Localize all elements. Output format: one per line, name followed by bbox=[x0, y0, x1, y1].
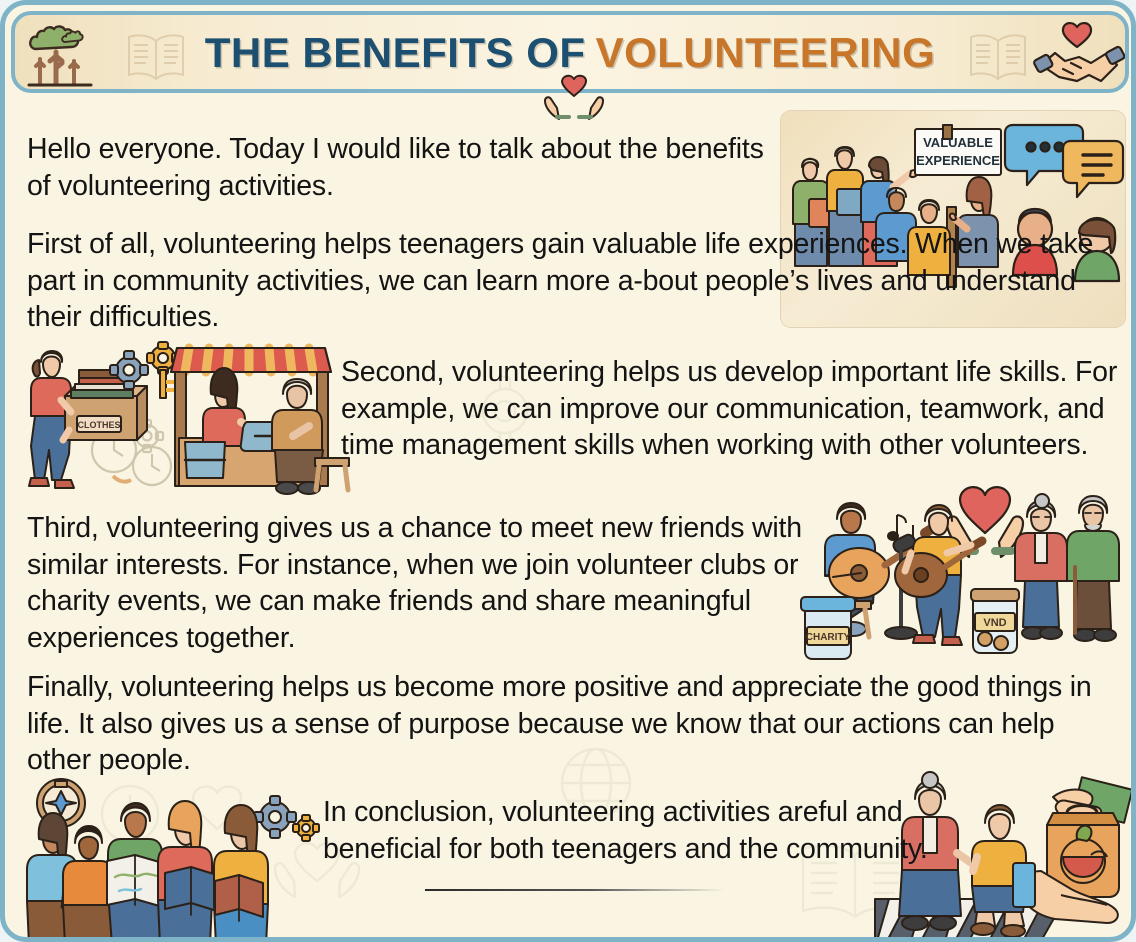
page-title: THE BENEFITS OFVOLUNTEERING bbox=[15, 29, 1125, 77]
title-part-2: VOLUNTEERING bbox=[596, 29, 936, 76]
donation-box-label: CLOTHES bbox=[77, 420, 120, 430]
title-part-1: THE BENEFITS OF bbox=[205, 29, 586, 76]
life-skills-illustration: CLOTHES bbox=[19, 338, 345, 498]
sign-line-1: VALUABLE bbox=[923, 135, 993, 150]
paragraph-conclusion: In conclusion, volunteering activities a… bbox=[323, 794, 943, 867]
paragraph-third: Third, volunteering gives us a chance to… bbox=[27, 510, 842, 656]
heart-in-hands-icon bbox=[533, 73, 615, 121]
infographic-poster: THE BENEFITS OFVOLUNTEERING bbox=[0, 0, 1136, 942]
paragraph-hello: Hello everyone. Today I would like to ta… bbox=[27, 131, 772, 204]
vnd-jar-label: VND bbox=[983, 617, 1006, 629]
group-reading-illustration bbox=[19, 777, 331, 942]
paragraph-finally: Finally, volunteering helps us become mo… bbox=[27, 669, 1117, 779]
conclusion-underline bbox=[425, 889, 725, 891]
paragraph-first: First of all, volunteering helps teenage… bbox=[27, 226, 1125, 336]
sign-line-2: EXPERIENCE bbox=[916, 153, 1000, 168]
paragraph-second: Second, volunteering helps us develop im… bbox=[341, 354, 1126, 464]
